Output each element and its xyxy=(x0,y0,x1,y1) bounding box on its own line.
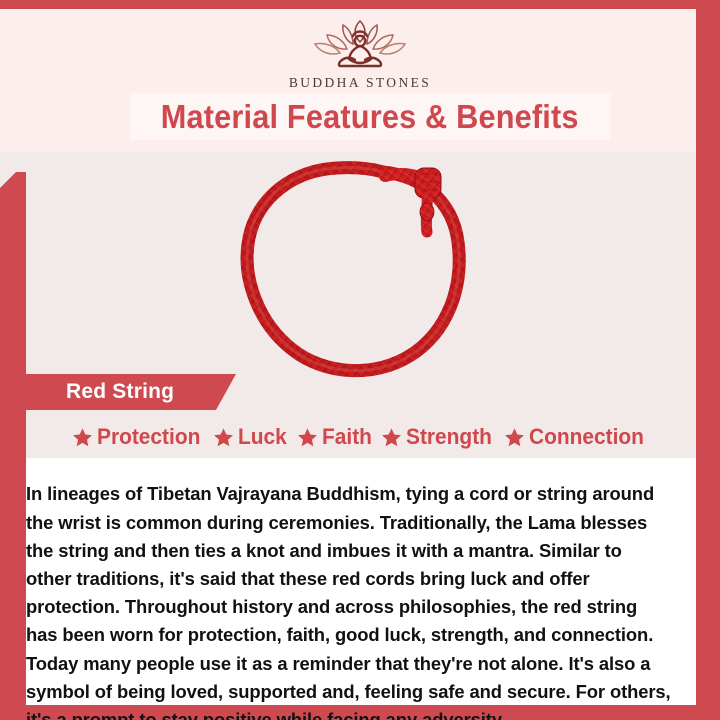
star-icon xyxy=(297,427,318,448)
benefit-label: Luck xyxy=(238,424,287,450)
benefit-item-connection: Connection xyxy=(504,424,650,450)
description-text: In lineages of Tibetan Vajrayana Buddhis… xyxy=(26,476,694,720)
benefit-item-protection: Protection xyxy=(72,424,206,450)
benefit-label: Protection xyxy=(97,424,200,450)
benefit-item-luck: Luck xyxy=(213,424,289,450)
border-right xyxy=(696,0,720,705)
title-banner: Material Features & Benefits xyxy=(130,93,610,140)
star-icon xyxy=(504,427,525,448)
benefit-item-faith: Faith xyxy=(297,424,375,450)
red-string-ribbon: Red String xyxy=(26,374,236,410)
benefit-label: Connection xyxy=(529,424,644,450)
red-string-bracelet-image xyxy=(215,150,515,390)
brand-logo: BUDDHA STONES xyxy=(0,16,720,91)
border-left xyxy=(0,172,26,705)
benefit-item-strength: Strength xyxy=(381,424,496,450)
benefit-label: Faith xyxy=(322,424,372,450)
star-icon xyxy=(381,427,402,448)
brand-name: BUDDHA STONES xyxy=(0,75,720,91)
benefit-label: Strength xyxy=(406,424,492,450)
star-icon xyxy=(213,427,234,448)
benefits-row: Protection Luck Faith Strength Connectio xyxy=(26,418,696,456)
border-top xyxy=(0,0,720,9)
bracelet-knot xyxy=(385,168,441,232)
lotus-meditation-figure-icon xyxy=(301,16,419,72)
star-icon xyxy=(72,427,93,448)
page-title: Material Features & Benefits xyxy=(161,98,579,136)
ribbon-label: Red String xyxy=(66,380,174,404)
product-image xyxy=(215,150,515,390)
poster-root: BUDDHA STONES Material Features & Benefi… xyxy=(0,0,720,720)
